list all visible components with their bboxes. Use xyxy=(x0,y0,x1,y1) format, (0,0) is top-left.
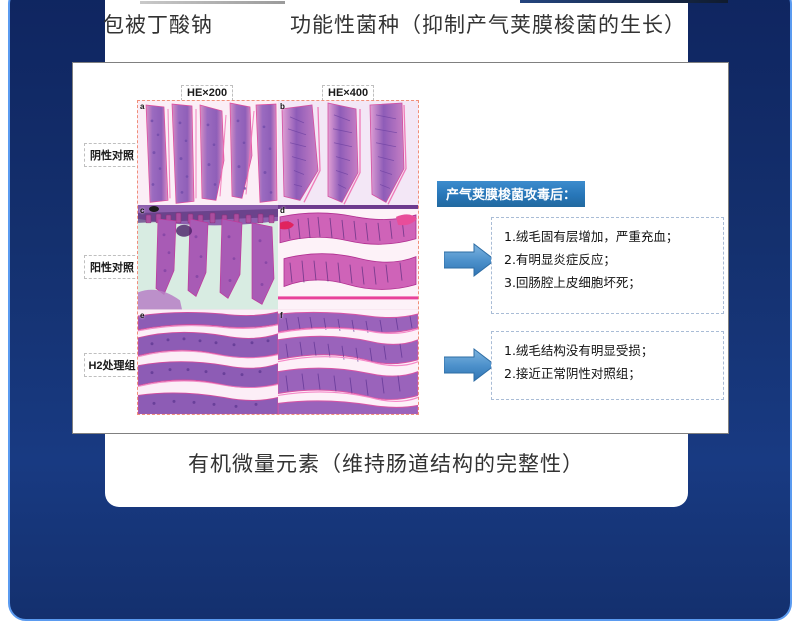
heading-functional-strains: 功能性菌种（抑制产气荚膜梭菌的生长） xyxy=(290,9,686,39)
top-divider-right xyxy=(520,0,728,3)
heading-organic-trace-elements: 有机微量元素（维持肠道结构的完整性） xyxy=(188,448,584,478)
histology-panel-e: e xyxy=(138,310,278,414)
histology-panel-f: f xyxy=(278,310,418,414)
callout-line: 1.绒毛结构没有明显受损； xyxy=(504,339,713,362)
panel-letter-e: e xyxy=(140,311,144,320)
column-header-he400: HE×400 xyxy=(322,85,374,101)
histology-panel-b: b xyxy=(278,101,418,205)
histology-panel-c: c xyxy=(138,205,278,309)
row-label-negative-control: 阴性对照 xyxy=(84,143,140,167)
panel-letter-c: c xyxy=(140,206,144,215)
panel-letter-b: b xyxy=(280,102,285,111)
arrow-right-icon-challenge xyxy=(444,243,496,277)
heading-coated-sodium-butyrate: 包被丁酸钠 xyxy=(103,9,213,39)
row-label-h2-treatment: H2处理组 xyxy=(84,353,140,377)
row-label-positive-control: 阳性对照 xyxy=(84,255,140,279)
top-divider-left xyxy=(140,1,285,4)
callout-treatment-results: 1.绒毛结构没有明显受损； 2.接近正常阴性对照组； xyxy=(491,331,724,400)
callout-line: 1.绒毛固有层增加，严重充血； xyxy=(504,225,713,248)
callout-line: 2.接近正常阴性对照组； xyxy=(504,362,713,385)
panel-letter-a: a xyxy=(140,102,144,111)
column-header-he200: HE×200 xyxy=(181,85,233,101)
panel-letter-d: d xyxy=(280,206,285,215)
callout-challenge-results: 1.绒毛固有层增加，严重充血； 2.有明显炎症反应； 3.回肠腔上皮细胞坏死； xyxy=(491,217,724,314)
arrow-right-icon-treatment xyxy=(444,348,496,382)
callout-line: 3.回肠腔上皮细胞坏死； xyxy=(504,271,713,294)
challenge-banner: 产气荚膜梭菌攻毒后： xyxy=(437,181,585,207)
panel-letter-f: f xyxy=(280,311,283,320)
callout-line: 2.有明显炎症反应； xyxy=(504,248,713,271)
histology-panel-a: a xyxy=(138,101,278,205)
histology-image-grid: a xyxy=(137,100,419,415)
histology-panel-d: d xyxy=(278,205,418,309)
